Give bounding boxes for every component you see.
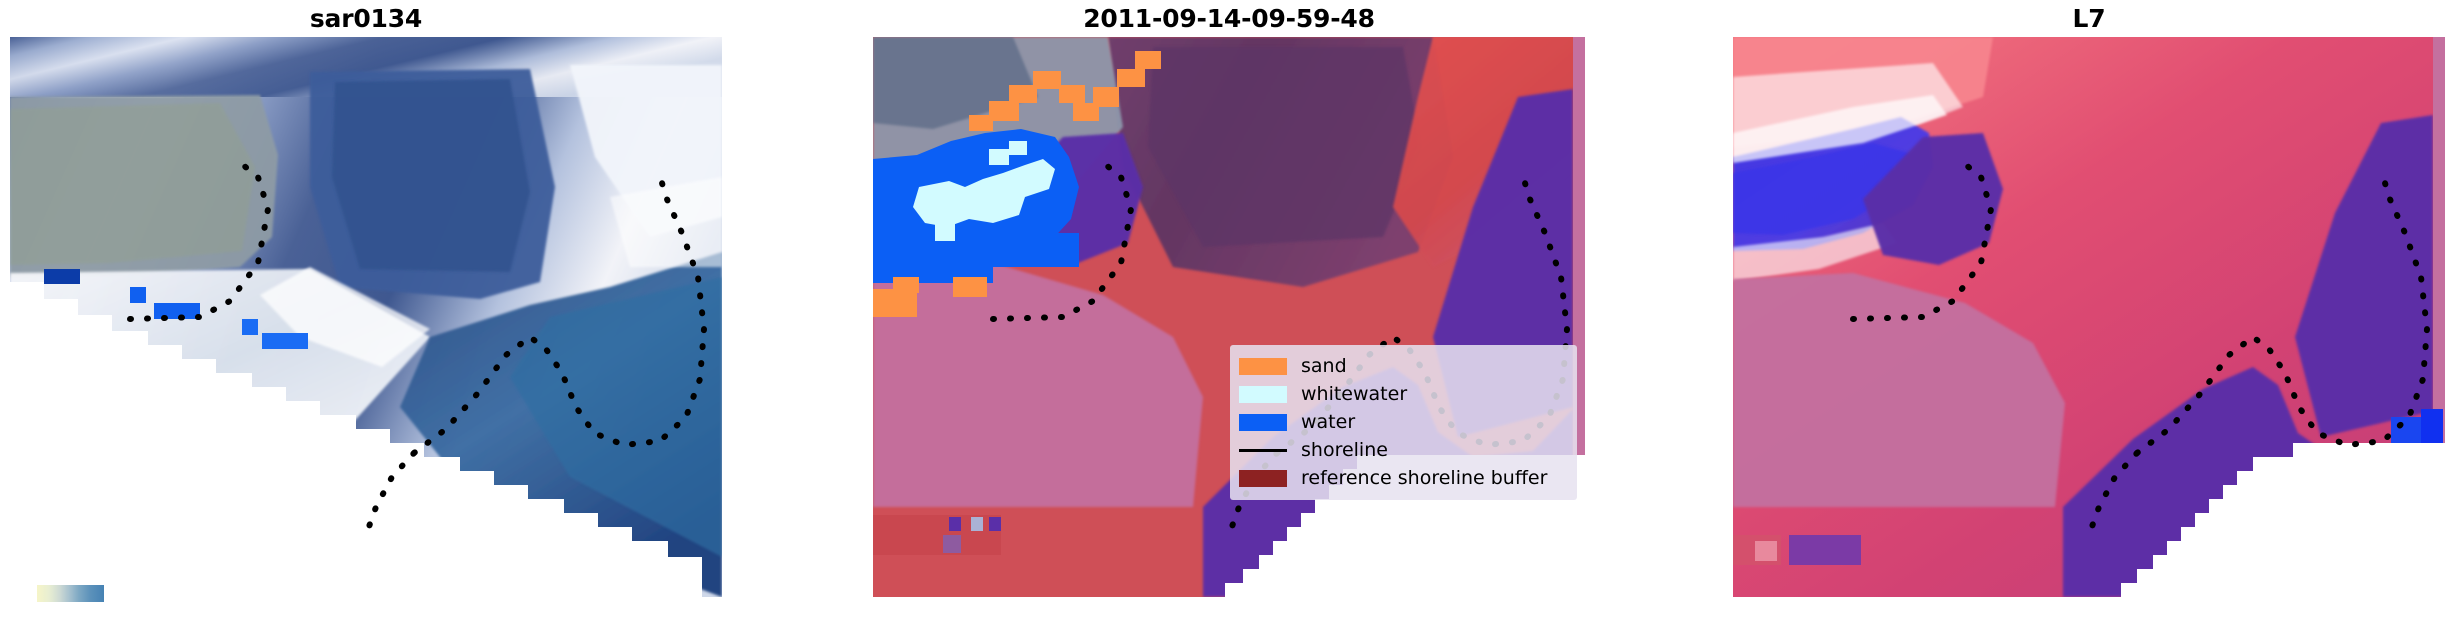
panel-l7: L7 <box>1733 0 2445 635</box>
legend-item-water[interactable]: water <box>1239 408 1568 436</box>
panel-title-1: 2011-09-14-09-59-48 <box>873 4 1585 34</box>
water-swatch-icon <box>1239 414 1287 431</box>
panel-classified: 2011-09-14-09-59-48 <box>873 0 1585 635</box>
reference-buffer-swatch-icon <box>1239 470 1287 487</box>
whitewater-swatch-icon <box>1239 386 1287 403</box>
shoreline-overlay-2 <box>1733 37 2445 597</box>
legend-label-shoreline: shoreline <box>1301 440 1388 460</box>
legend-label-whitewater: whitewater <box>1301 384 1407 404</box>
panel-title-2: L7 <box>1733 4 2445 34</box>
legend-item-shoreline[interactable]: shoreline <box>1239 436 1568 464</box>
sar-image <box>10 37 722 597</box>
axes-classified[interactable]: sand whitewater water shoreline referenc… <box>873 37 1585 597</box>
panel-title-0: sar0134 <box>10 4 722 34</box>
legend-item-sand[interactable]: sand <box>1239 352 1568 380</box>
legend-label-reference-buffer: reference shoreline buffer <box>1301 468 1547 488</box>
shoreline-overlay-1 <box>873 37 1585 597</box>
legend[interactable]: sand whitewater water shoreline referenc… <box>1230 345 1577 500</box>
axes-sar0134[interactable] <box>10 37 722 597</box>
panel-sar0134: sar0134 <box>10 0 722 635</box>
sand-swatch-icon <box>1239 358 1287 375</box>
sar-intensity-colorbar <box>37 585 104 602</box>
legend-item-reference-buffer[interactable]: reference shoreline buffer <box>1239 464 1568 492</box>
legend-label-sand: sand <box>1301 356 1347 376</box>
legend-label-water: water <box>1301 412 1355 432</box>
figure-canvas: sar0134 <box>0 0 2460 635</box>
colorbar-gradient <box>37 585 104 602</box>
shoreline-line-icon <box>1239 442 1287 459</box>
legend-item-whitewater[interactable]: whitewater <box>1239 380 1568 408</box>
shoreline-overlay-0 <box>10 37 722 597</box>
axes-l7[interactable] <box>1733 37 2445 597</box>
